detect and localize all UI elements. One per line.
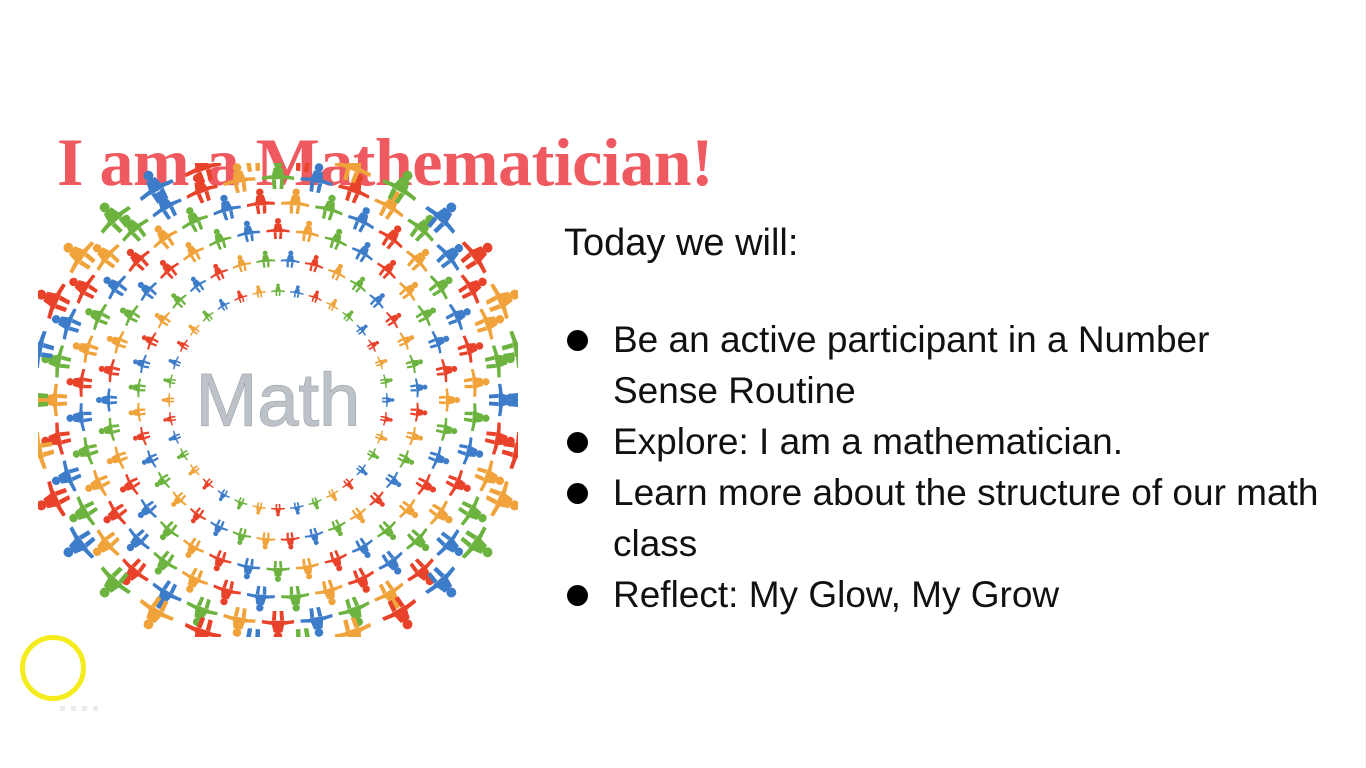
bullet-dot-icon bbox=[567, 585, 588, 606]
person-figure-icon bbox=[412, 470, 442, 501]
person-figure-icon bbox=[280, 532, 300, 551]
person-figure-icon bbox=[442, 466, 477, 502]
person-figure-icon bbox=[404, 425, 425, 447]
person-figure-icon bbox=[131, 495, 162, 526]
person-figure-icon bbox=[150, 469, 175, 494]
person-figure-icon bbox=[69, 332, 101, 365]
person-figure-icon bbox=[453, 230, 502, 280]
person-figure-icon bbox=[453, 520, 502, 570]
person-figure-icon bbox=[65, 402, 93, 432]
person-figure-icon bbox=[295, 557, 321, 582]
person-figure-icon bbox=[344, 202, 380, 237]
person-figure-icon bbox=[353, 462, 371, 480]
person-figure-icon bbox=[103, 327, 131, 356]
person-figure-icon bbox=[379, 411, 394, 427]
person-figure-icon bbox=[210, 577, 243, 609]
faint-pencil-marks bbox=[60, 706, 104, 711]
agenda-lead-line: Today we will: bbox=[564, 218, 1324, 268]
person-figure-icon bbox=[373, 429, 389, 446]
person-figure-icon bbox=[232, 288, 249, 304]
person-figure-icon bbox=[97, 417, 122, 443]
person-figure-icon bbox=[256, 250, 276, 269]
bullet-dot-icon bbox=[567, 483, 588, 504]
person-figure-icon bbox=[138, 328, 161, 352]
person-figure-icon bbox=[118, 522, 156, 560]
person-figure-icon bbox=[115, 470, 145, 501]
person-figure-icon bbox=[96, 496, 133, 533]
person-figure-icon bbox=[347, 504, 372, 529]
person-figure-icon bbox=[206, 517, 230, 540]
agenda-bullet-text: Reflect: My Glow, My Grow bbox=[613, 574, 1059, 615]
person-figure-icon bbox=[423, 267, 460, 304]
person-figure-icon bbox=[410, 378, 429, 398]
person-figure-icon bbox=[295, 219, 321, 244]
person-figure-icon bbox=[423, 496, 460, 533]
person-figure-icon bbox=[382, 306, 407, 331]
person-figure-icon bbox=[128, 378, 147, 398]
person-figure-icon bbox=[353, 320, 371, 338]
person-figure-icon bbox=[435, 417, 460, 443]
person-figure-icon bbox=[230, 526, 252, 547]
person-figure-icon bbox=[280, 250, 300, 269]
person-figure-icon bbox=[38, 384, 67, 416]
agenda-bullet-item: Be an active participant in a Number Sen… bbox=[564, 314, 1324, 416]
person-figure-icon bbox=[313, 577, 346, 609]
person-figure-icon bbox=[184, 462, 202, 480]
person-figure-icon bbox=[206, 260, 230, 283]
person-figure-icon bbox=[483, 342, 518, 379]
person-figure-icon bbox=[400, 522, 438, 560]
person-figure-icon bbox=[230, 253, 252, 274]
person-figure-icon bbox=[220, 605, 257, 637]
person-figure-icon bbox=[326, 260, 350, 283]
person-figure-icon bbox=[463, 402, 491, 432]
person-figure-icon bbox=[38, 421, 73, 458]
person-figure-icon bbox=[177, 237, 208, 267]
person-figure-icon bbox=[400, 240, 438, 278]
mandala-center-label: Math bbox=[196, 359, 361, 442]
person-figure-icon bbox=[80, 298, 115, 334]
person-figure-icon bbox=[220, 163, 257, 195]
person-figure-icon bbox=[340, 306, 358, 324]
person-figure-icon bbox=[65, 368, 93, 398]
person-figure-icon bbox=[118, 240, 156, 278]
person-figure-icon bbox=[365, 287, 390, 312]
person-figure-icon bbox=[374, 545, 411, 582]
person-figure-icon bbox=[425, 444, 453, 473]
person-figure-icon bbox=[394, 495, 425, 526]
person-figure-icon bbox=[326, 517, 350, 540]
person-figure-icon bbox=[131, 274, 162, 305]
bullet-dot-icon bbox=[567, 432, 588, 453]
person-figure-icon bbox=[365, 446, 383, 464]
person-figure-icon bbox=[184, 504, 209, 529]
person-figure-icon bbox=[455, 435, 487, 468]
agenda-bullet-text: Learn more about the structure of our ma… bbox=[613, 472, 1318, 564]
person-figure-icon bbox=[382, 393, 394, 407]
math-people-mandala-graphic: Math bbox=[38, 163, 518, 637]
person-figure-icon bbox=[348, 237, 379, 267]
person-figure-icon bbox=[96, 388, 117, 411]
agenda-bullet-item: Learn more about the structure of our ma… bbox=[564, 467, 1324, 569]
agenda-bullet-item: Explore: I am a mathematician. bbox=[564, 416, 1324, 467]
bullet-dot-icon bbox=[567, 330, 588, 351]
person-figure-icon bbox=[489, 384, 518, 416]
person-figure-icon bbox=[214, 487, 232, 505]
person-figure-icon bbox=[289, 284, 305, 299]
person-figure-icon bbox=[251, 284, 267, 299]
person-figure-icon bbox=[382, 469, 407, 494]
person-figure-icon bbox=[131, 425, 152, 447]
person-figure-icon bbox=[174, 446, 192, 464]
person-figure-icon bbox=[289, 501, 305, 516]
person-figure-icon bbox=[162, 411, 177, 427]
person-figure-icon bbox=[266, 561, 289, 582]
agenda-bullet-text: Be an active participant in a Number Sen… bbox=[613, 319, 1209, 411]
person-figure-icon bbox=[152, 516, 183, 547]
person-figure-icon bbox=[115, 299, 145, 330]
person-figure-icon bbox=[374, 218, 411, 255]
person-figure-icon bbox=[429, 233, 472, 277]
person-figure-icon bbox=[266, 218, 289, 239]
person-figure-icon bbox=[176, 564, 212, 599]
person-figure-icon bbox=[80, 466, 115, 502]
person-figure-icon bbox=[348, 534, 379, 564]
person-figure-icon bbox=[162, 393, 174, 407]
person-figure-icon bbox=[205, 225, 234, 253]
person-figure-icon bbox=[246, 187, 276, 215]
person-figure-icon bbox=[235, 557, 261, 582]
person-figure-icon bbox=[313, 191, 346, 223]
person-figure-icon bbox=[103, 444, 131, 473]
person-figure-icon bbox=[235, 219, 261, 244]
person-figure-icon bbox=[69, 435, 101, 468]
person-figure-icon bbox=[410, 402, 429, 422]
person-figure-icon bbox=[303, 253, 325, 274]
person-figure-icon bbox=[322, 225, 351, 253]
person-figure-icon bbox=[307, 495, 324, 511]
person-figure-icon bbox=[177, 534, 208, 564]
person-figure-icon bbox=[232, 495, 249, 511]
person-figure-icon bbox=[165, 287, 190, 312]
person-figure-icon bbox=[435, 357, 460, 383]
person-figure-icon bbox=[214, 296, 232, 314]
person-figure-icon bbox=[174, 336, 192, 354]
person-figure-icon bbox=[83, 523, 126, 567]
person-figure-icon bbox=[131, 352, 152, 374]
person-figure-icon bbox=[395, 328, 418, 352]
person-figure-icon bbox=[198, 475, 216, 493]
yellow-circle-annotation bbox=[20, 635, 86, 701]
person-figure-icon bbox=[404, 352, 425, 374]
person-figure-icon bbox=[425, 327, 453, 356]
person-figure-icon bbox=[303, 526, 325, 547]
person-figure-icon bbox=[365, 336, 383, 354]
agenda-bullet-text: Explore: I am a mathematician. bbox=[613, 421, 1123, 462]
person-figure-icon bbox=[373, 253, 404, 284]
person-figure-icon bbox=[162, 373, 177, 389]
person-figure-icon bbox=[455, 332, 487, 365]
person-figure-icon bbox=[322, 547, 351, 575]
person-figure-icon bbox=[299, 163, 336, 195]
person-figure-icon bbox=[394, 274, 425, 305]
person-figure-icon bbox=[365, 487, 390, 512]
slide-canvas: I am a Mathematician! Math Today we will… bbox=[0, 0, 1366, 768]
person-figure-icon bbox=[96, 267, 133, 304]
person-figure-icon bbox=[262, 163, 294, 189]
person-figure-icon bbox=[53, 520, 102, 570]
person-figure-icon bbox=[340, 475, 358, 493]
agenda-bullet-item: Reflect: My Glow, My Grow bbox=[564, 569, 1324, 620]
person-figure-icon bbox=[299, 605, 336, 637]
person-figure-icon bbox=[128, 402, 147, 422]
person-figure-icon bbox=[138, 448, 161, 472]
person-figure-icon bbox=[347, 272, 372, 297]
person-figure-icon bbox=[166, 354, 182, 371]
person-figure-icon bbox=[463, 368, 491, 398]
person-figure-icon bbox=[439, 388, 460, 411]
person-figure-icon bbox=[373, 354, 389, 371]
mandala-svg: Math bbox=[38, 163, 518, 637]
person-figure-icon bbox=[184, 272, 209, 297]
person-figure-icon bbox=[184, 320, 202, 338]
agenda-bullet-list: Be an active participant in a Number Sen… bbox=[564, 314, 1324, 620]
person-figure-icon bbox=[324, 296, 342, 314]
agenda-block: Today we will: Be an active participant … bbox=[564, 218, 1324, 620]
person-figure-icon bbox=[271, 284, 285, 296]
person-figure-icon bbox=[271, 504, 285, 516]
person-figure-icon bbox=[53, 230, 102, 280]
person-figure-icon bbox=[373, 516, 404, 547]
person-figure-icon bbox=[395, 448, 418, 472]
person-figure-icon bbox=[38, 342, 73, 379]
person-figure-icon bbox=[165, 487, 190, 512]
person-figure-icon bbox=[205, 547, 234, 575]
person-figure-icon bbox=[246, 585, 276, 613]
person-figure-icon bbox=[379, 373, 394, 389]
person-figure-icon bbox=[442, 298, 477, 334]
person-figure-icon bbox=[344, 564, 380, 599]
person-figure-icon bbox=[83, 233, 126, 277]
person-figure-icon bbox=[256, 532, 276, 551]
person-figure-icon bbox=[97, 357, 122, 383]
person-figure-icon bbox=[145, 545, 182, 582]
person-figure-icon bbox=[324, 487, 342, 505]
person-figure-icon bbox=[412, 299, 442, 330]
person-figure-icon bbox=[166, 429, 182, 446]
person-figure-icon bbox=[152, 253, 183, 284]
person-figure-icon bbox=[210, 191, 243, 223]
person-figure-icon bbox=[150, 306, 175, 331]
person-figure-icon bbox=[307, 288, 324, 304]
person-figure-icon bbox=[251, 501, 267, 516]
person-figure-icon bbox=[262, 611, 294, 637]
person-figure-icon bbox=[176, 202, 212, 237]
person-figure-icon bbox=[198, 306, 216, 324]
person-figure-icon bbox=[483, 421, 518, 458]
person-figure-icon bbox=[280, 585, 310, 613]
person-figure-icon bbox=[280, 187, 310, 215]
person-figure-icon bbox=[145, 218, 182, 255]
person-figure-icon bbox=[429, 523, 472, 567]
